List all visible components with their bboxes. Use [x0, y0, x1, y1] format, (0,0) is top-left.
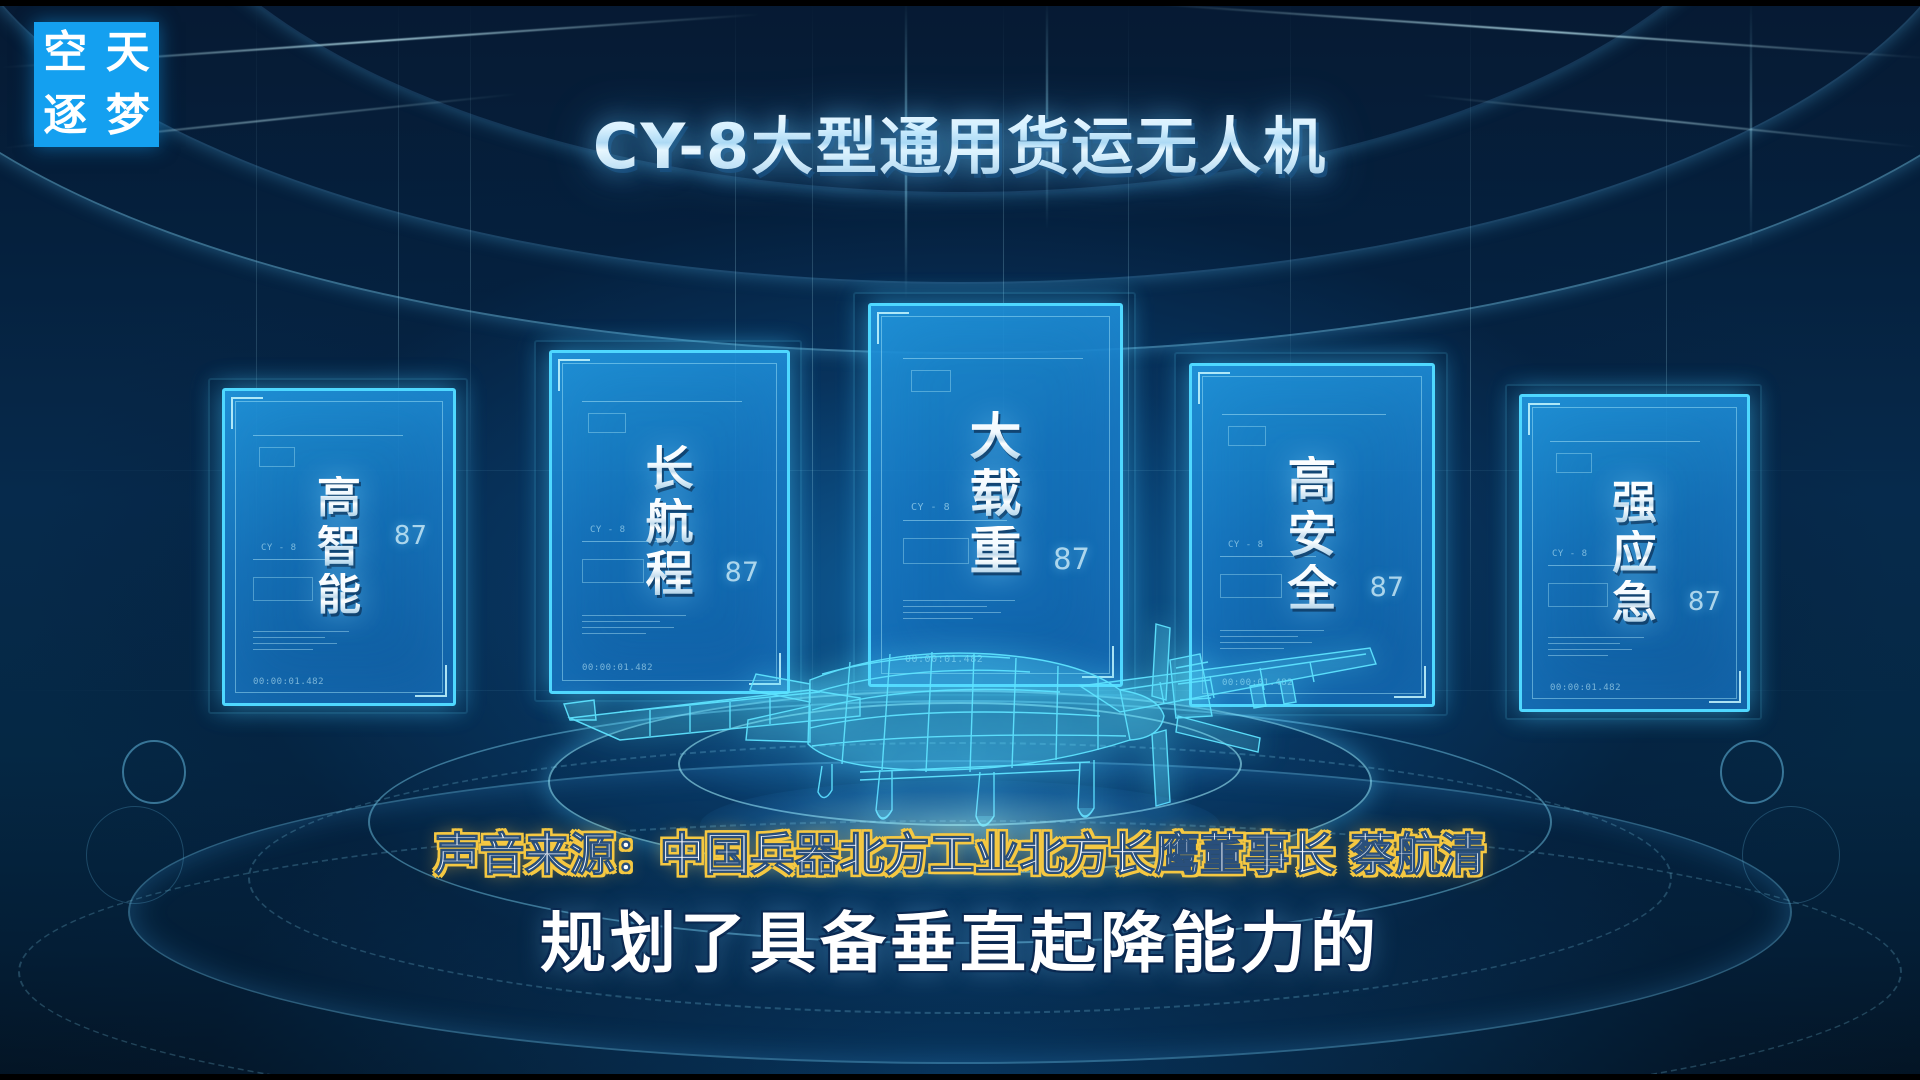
- title-bar: CY-8大型通用货运无人机: [0, 96, 1920, 186]
- caption-text: 规划了具备垂直起降能力的: [540, 905, 1380, 982]
- card-label-char: 安: [1287, 510, 1336, 560]
- card-label-char: 载: [969, 468, 1021, 521]
- card-label-char: 航: [645, 498, 693, 547]
- letterbox-top: [0, 0, 1920, 6]
- feature-card-strong-emergency[interactable]: CY - 8 00:00:01.482 87 强 应 急: [1519, 394, 1750, 712]
- card-label-char: 高: [317, 476, 361, 521]
- page-title: CY-8大型通用货运无人机: [593, 96, 1327, 186]
- card-label-char: 大: [969, 411, 1021, 464]
- logo-char-1: 空: [43, 31, 87, 75]
- card-label-char: 程: [645, 550, 693, 599]
- floor-node: [1720, 740, 1784, 804]
- card-label-char: 重: [969, 526, 1021, 579]
- card-label: 高 智 能: [225, 391, 453, 703]
- attribution-subtitle: 声音来源：中国兵器北方工业北方长鹰董事长 蔡航清: [0, 818, 1920, 883]
- light-streak: [470, 0, 471, 480]
- card-label-char: 应: [1612, 530, 1657, 576]
- attribution-text: 声音来源：中国兵器北方工业北方长鹰董事长 蔡航清: [435, 828, 1486, 881]
- card-label: 强 应 急: [1522, 397, 1747, 709]
- card-label-char: 能: [317, 573, 361, 618]
- card-label-char: 急: [1612, 580, 1657, 626]
- video-frame: 空 天 逐 梦 CY-8大型通用货运无人机 CY - 8 00:00:01.48…: [0, 0, 1920, 1080]
- card-label-char: 智: [317, 525, 361, 570]
- logo-char-2: 天: [106, 31, 150, 75]
- light-swoosh: [1151, 3, 1920, 59]
- card-label-char: 高: [1287, 456, 1336, 506]
- letterbox-bottom: [0, 1074, 1920, 1080]
- feature-card-high-intelligence[interactable]: CY - 8 00:00:01.482 87 高 智 能: [222, 388, 456, 706]
- closed-caption: 规划了具备垂直起降能力的: [0, 890, 1920, 986]
- card-label-char: 长: [645, 445, 693, 494]
- floor-node: [122, 740, 186, 804]
- card-label-char: 强: [1612, 480, 1657, 526]
- card-label-char: 全: [1287, 564, 1336, 614]
